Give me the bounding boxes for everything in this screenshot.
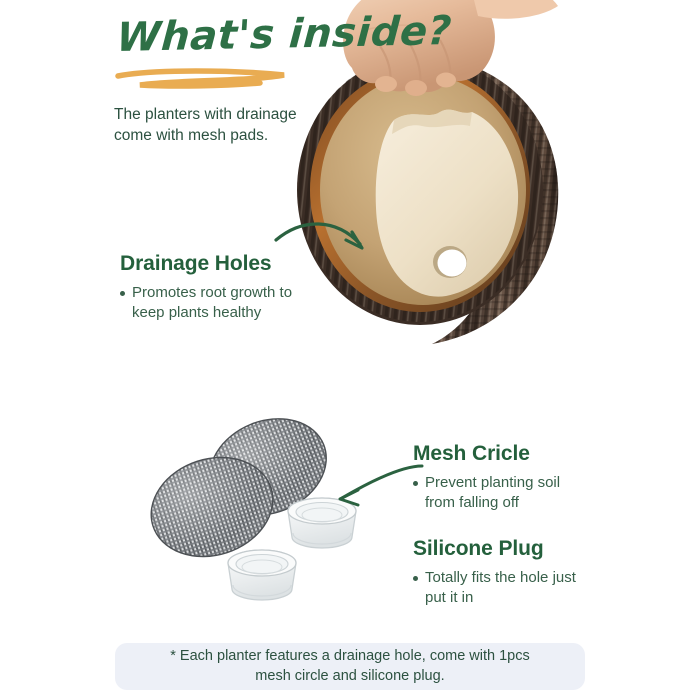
feature-mesh-circle: Mesh Cricle Prevent planting soil from f… <box>413 442 643 513</box>
feature-bullet-text: Prevent planting soil from falling off <box>425 473 560 513</box>
feature-bullet: Prevent planting soil from falling off <box>413 473 643 513</box>
mesh-and-plugs-photo <box>140 415 370 620</box>
title-block: What's inside? <box>118 18 418 98</box>
bullet-dot-icon <box>413 576 418 581</box>
title-underline-swoosh <box>114 67 296 89</box>
footer-note-text: * Each planter features a drainage hole,… <box>156 647 544 685</box>
feature-bullet: Promotes root growth to keep plants heal… <box>120 283 335 323</box>
feature-bullet-text: Promotes root growth to keep plants heal… <box>132 283 292 323</box>
infographic-page: What's inside? The planters with drainag… <box>0 0 700 700</box>
bullet-dot-icon <box>120 291 125 296</box>
bullet-dot-icon <box>413 481 418 486</box>
footer-note-box: * Each planter features a drainage hole,… <box>115 643 585 690</box>
silicone-plug-top <box>288 498 356 548</box>
feature-bullet: Totally fits the hole just put it in <box>413 568 653 608</box>
drainage-hole <box>433 246 467 278</box>
silicone-plug-bottom <box>228 550 296 600</box>
feature-heading: Drainage Holes <box>120 252 335 276</box>
feature-silicone-plug: Silicone Plug Totally fits the hole just… <box>413 537 653 608</box>
feature-heading: Silicone Plug <box>413 537 653 561</box>
feature-drainage-holes: Drainage Holes Promotes root growth to k… <box>120 252 335 323</box>
mesh-and-plugs-illustration <box>140 415 370 620</box>
subtitle-text: The planters with drainage come with mes… <box>114 105 354 147</box>
page-title: What's inside? <box>115 12 418 58</box>
feature-heading: Mesh Cricle <box>413 442 643 466</box>
feature-bullet-text: Totally fits the hole just put it in <box>425 568 576 608</box>
